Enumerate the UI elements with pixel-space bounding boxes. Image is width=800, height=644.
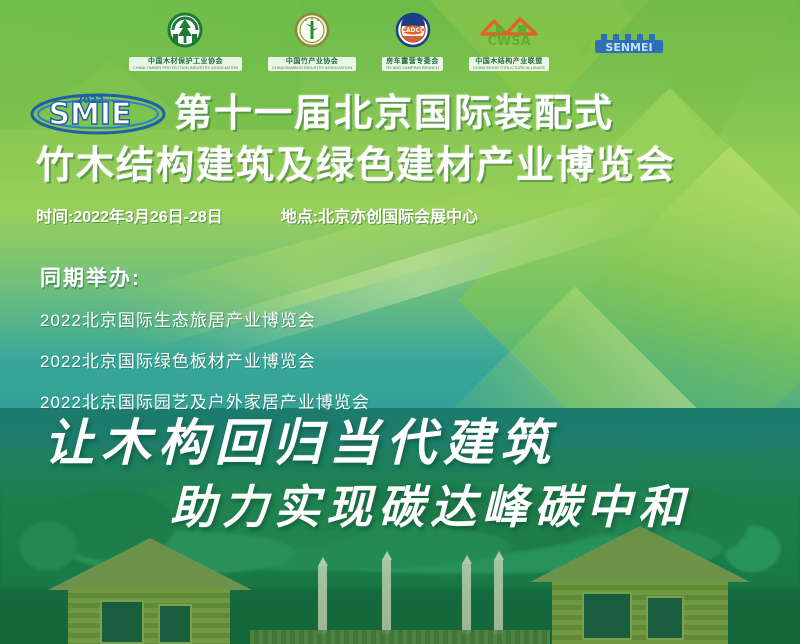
logo-subcaption: CHINA TIMBER PROTECTION INDUSTRY ASSOCIA… [133, 66, 238, 70]
logo-caption: 中国木材保护工业协会 CHINA TIMBER PROTECTION INDUS… [129, 57, 242, 71]
tree-shield-icon [165, 12, 205, 55]
event-date: 时间:2022年3月26日-28日 [36, 203, 223, 227]
expo-poster: 中国木材保护工业协会 CHINA TIMBER PROTECTION INDUS… [0, 0, 800, 644]
event-venue: 地点:北京亦创国际会展中心 [281, 203, 478, 227]
logo-caption [619, 69, 627, 71]
cwsa-acronym: CWSA [487, 34, 530, 49]
concurrent-events-section: 同期举办: 2022北京国际生态旅居产业博览会 2022北京国际绿色板材产业博览… [0, 262, 800, 429]
slogan-block: 让木构回归当代建筑 助力实现碳达峰碳中和 [0, 418, 800, 530]
event-meta: 时间:2022年3月26日-28日 地点:北京亦创国际会展中心 [0, 203, 800, 227]
smie-logo: SMIE 2022 [28, 90, 168, 136]
sponsor-logo-bar: 中国木材保护工业协会 CHINA TIMBER PROTECTION INDUS… [0, 8, 800, 74]
logo-caption: 房车露营专委会 RV AND CAMPING BRANCH [382, 57, 443, 71]
cwsa-house-icon: CWSA [478, 14, 540, 55]
page-title-line2: 竹木结构建筑及绿色建材产业博览会 [0, 146, 800, 184]
logo-subcaption: CHINA WOOD STRUCTURE ALLIANCE [473, 66, 545, 70]
page-title-line1: 第十一届北京国际装配式 [174, 94, 614, 132]
logo-cadcc-rv-camping[interactable]: CADCC 房车露营专委会 RV AND CAMPING BRANCH [382, 11, 443, 71]
logo-subcaption: RV AND CAMPING BRANCH [386, 66, 439, 70]
concurrent-event-item: 2022北京国际生态旅居产业博览会 [40, 306, 800, 331]
logo-caption: 中国竹产业协会 CHINA BAMBOO INDUSTRY ASSOCIATIO… [268, 57, 356, 71]
svg-text:CADCC: CADCC [401, 27, 424, 34]
title-row-1: SMIE 2022 第十一届北京国际装配式 [0, 86, 800, 140]
smie-year: 2022 [76, 95, 104, 106]
concurrent-event-item: 2022北京国际绿色板材产业博览会 [40, 347, 800, 372]
slogan-line-1: 让木构回归当代建筑 [0, 418, 800, 468]
logo-cwsa-wood-structure[interactable]: CWSA 中国木结构产业联盟 CHINA WOOD STRUCTURE ALLI… [469, 11, 549, 71]
slogan-line-2: 助力实现碳达峰碳中和 [0, 484, 800, 530]
senmei-acronym: SENMEI [605, 41, 652, 54]
cadcc-badge-icon: CADCC [394, 12, 432, 55]
logo-china-timber-association[interactable]: 中国木材保护工业协会 CHINA TIMBER PROTECTION INDUS… [129, 11, 242, 71]
senmei-leaf-icon: SENMEI [575, 28, 671, 67]
logo-subcaption: CHINA BAMBOO INDUSTRY ASSOCIATION [272, 66, 352, 70]
title-block: SMIE 2022 第十一届北京国际装配式 竹木结构建筑及绿色建材产业博览会 [0, 86, 800, 184]
bamboo-seal-icon [293, 12, 331, 55]
logo-bamboo-industry-association[interactable]: 中国竹产业协会 CHINA BAMBOO INDUSTRY ASSOCIATIO… [268, 11, 356, 71]
logo-senmei[interactable]: SENMEI [575, 11, 671, 71]
concurrent-events-heading: 同期举办: [40, 262, 800, 292]
logo-caption: 中国木结构产业联盟 CHINA WOOD STRUCTURE ALLIANCE [469, 57, 549, 71]
concurrent-event-item: 2022北京国际园艺及户外家居产业博览会 [40, 388, 800, 413]
